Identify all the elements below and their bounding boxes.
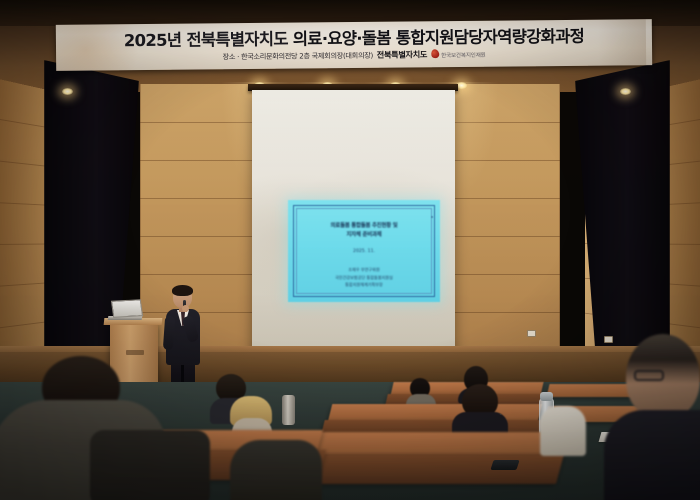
desk-row-near-front: [284, 454, 564, 484]
eyeglasses-icon: [634, 370, 664, 381]
tumbler: [282, 395, 295, 425]
laptop-screen: [111, 299, 143, 318]
conference-hall-photo: 2025년 전북특별자치도 의료·요양·돌봄 통합지원담당자역량강화과정 장소 …: [0, 0, 700, 500]
ceiling-spotlight: [62, 88, 73, 95]
audience-person-foreground-center: [230, 440, 322, 500]
chair-back: [90, 430, 210, 500]
audience-chair-foreground: [90, 430, 210, 500]
slide-affiliation-line1: 조재우 부연구위원: [348, 267, 379, 272]
person-torso: [604, 410, 700, 500]
person-torso: [230, 440, 322, 500]
speaker-hand: [182, 305, 189, 312]
speaker: [160, 286, 206, 386]
logo-mark-icon: [430, 48, 440, 59]
audience-person-hood: [230, 396, 272, 430]
banner-title-year: 2025년 전북특별자치도: [124, 30, 293, 51]
banner-location: 장소 · 한국소리문화의전당 2층 국제회의장(대회의장): [223, 51, 373, 61]
slide-affiliation-line3: 통합지원체계기획부장: [345, 282, 383, 287]
slide-affiliation: 조재우 부연구위원 국민건강보험공단 통합돌봄지원실 통합지원체계기획부장: [298, 266, 430, 289]
slide-title: 의료돌봄 통합돌봄 추진현황 및 지자체 준비과제: [300, 222, 428, 241]
person-coat: [540, 406, 586, 456]
slide-date: 2025. 11.: [288, 249, 440, 254]
slide-page-mark-icon: [431, 216, 433, 218]
podium-emblem: [126, 350, 144, 355]
audience-person: [540, 392, 586, 452]
audience-person: [406, 378, 436, 406]
slide-title-line1: 의료돌봄 통합돌봄 추진현황 및: [331, 223, 398, 229]
slide-affiliation-line2: 국민건강보험공단 통합돌봄지원실: [335, 275, 393, 280]
banner-institute: 한국보건복지인재원: [441, 53, 486, 59]
audience-person: [452, 384, 508, 436]
desk-row-near: [297, 432, 563, 456]
slide-title-line2: 지자체 준비과제: [347, 232, 382, 238]
smartphone: [490, 460, 519, 470]
banner-org: 전북특별자치도: [377, 49, 427, 59]
ceiling-spotlight: [620, 88, 631, 95]
wall-outlet-icon: [527, 330, 536, 337]
event-banner: 2025년 전북특별자치도 의료·요양·돌봄 통합지원담당자역량강화과정 장소 …: [56, 19, 652, 71]
banner-title-main: 의료·요양·돌봄 통합지원담당자역량강화과정: [293, 27, 584, 49]
speaker-hair: [172, 285, 193, 296]
projected-slide: 의료돌봄 통합돌봄 추진현황 및 지자체 준비과제 2025. 11. 조재우 …: [288, 200, 440, 302]
audience-person-foreground-right: [604, 334, 700, 500]
